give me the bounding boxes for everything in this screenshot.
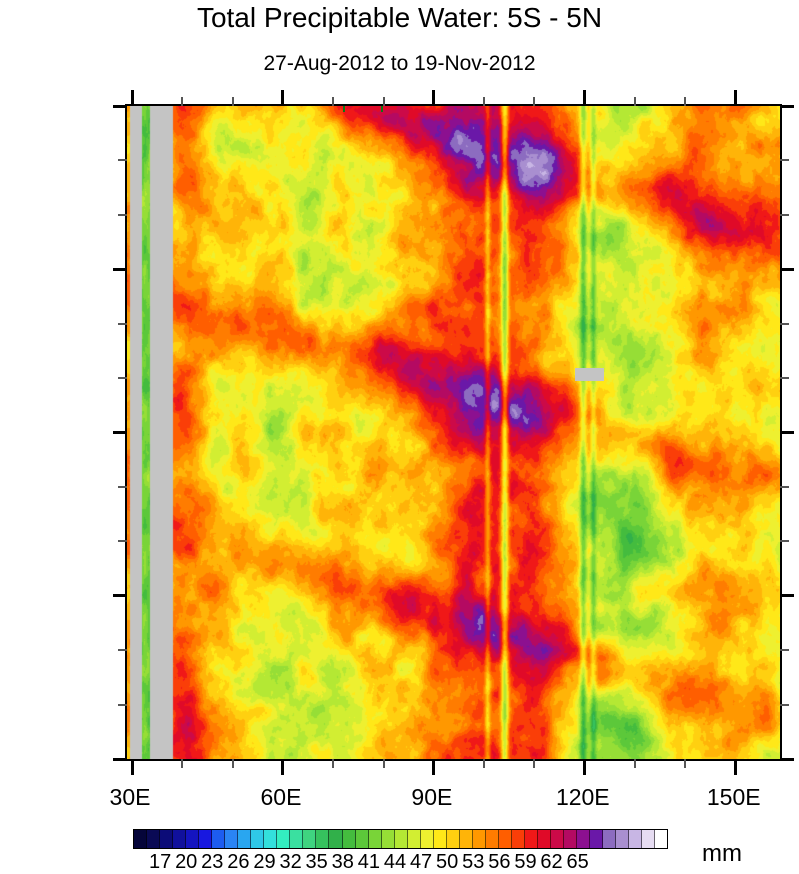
colorbar-tick-label: 23 (201, 851, 223, 874)
colorbar-cell (395, 830, 408, 848)
colorbar-tick-label: 62 (540, 851, 562, 874)
colorbar-tick-label: 29 (253, 851, 275, 874)
colorbar-cell (225, 830, 238, 848)
colorbar-gradient (133, 829, 668, 849)
colorbar-cell (290, 830, 303, 848)
colorbar-cell (186, 830, 199, 848)
colorbar-cell (329, 830, 342, 848)
x-axis-tick-label: 30E (80, 784, 180, 811)
colorbar-cell (199, 830, 212, 848)
colorbar-cell (642, 830, 655, 848)
colorbar-cell (264, 830, 277, 848)
colorbar-tick-label: 26 (227, 851, 249, 874)
colorbar-cell (538, 830, 551, 848)
colorbar-cell (343, 830, 356, 848)
colorbar-cell (499, 830, 512, 848)
colorbar-cell (369, 830, 382, 848)
colorbar-tick-label: 65 (567, 851, 589, 874)
colorbar-cell (277, 830, 290, 848)
colorbar-cell (577, 830, 590, 848)
colorbar-cell (434, 830, 447, 848)
colorbar-cell (212, 830, 225, 848)
colorbar-cell (382, 830, 395, 848)
x-axis-labels: 30E60E90E120E150E (0, 0, 799, 872)
colorbar-tick-label: 59 (514, 851, 536, 874)
colorbar-cell (460, 830, 473, 848)
colorbar-cell (629, 830, 642, 848)
colorbar-cell (512, 830, 525, 848)
colorbar-cell (134, 830, 147, 848)
x-axis-tick-label: 60E (231, 784, 331, 811)
x-axis-tick-label: 90E (382, 784, 482, 811)
colorbar-cell (421, 830, 434, 848)
colorbar-cell (447, 830, 460, 848)
colorbar-cell (616, 830, 629, 848)
colorbar-cell (160, 830, 173, 848)
colorbar-cell (473, 830, 486, 848)
colorbar-cell (603, 830, 616, 848)
colorbar-tick-label: 32 (279, 851, 301, 874)
colorbar-tick-label: 38 (332, 851, 354, 874)
x-axis-tick-label: 120E (533, 784, 633, 811)
colorbar-cell (251, 830, 264, 848)
colorbar-tick-label: 41 (358, 851, 380, 874)
colorbar-cell (408, 830, 421, 848)
colorbar-unit-label: mm (702, 840, 742, 868)
colorbar-cell (173, 830, 186, 848)
colorbar-tick-label: 20 (175, 851, 197, 874)
colorbar-tick-label: 53 (462, 851, 484, 874)
colorbar-cell (356, 830, 369, 848)
colorbar-tick-label: 17 (149, 851, 171, 874)
colorbar-tick-label: 56 (488, 851, 510, 874)
colorbar-cell (316, 830, 329, 848)
colorbar-tick-label: 35 (306, 851, 328, 874)
colorbar-cell (303, 830, 316, 848)
colorbar: 1720232629323538414447505356596265 (133, 829, 668, 849)
colorbar-cell (655, 830, 667, 848)
colorbar-cell (486, 830, 499, 848)
colorbar-cell (590, 830, 603, 848)
colorbar-cell (525, 830, 538, 848)
colorbar-tick-label: 47 (410, 851, 432, 874)
colorbar-cell (147, 830, 160, 848)
x-axis-tick-label: 150E (684, 784, 784, 811)
colorbar-tick-label: 44 (384, 851, 406, 874)
colorbar-tick-label: 50 (436, 851, 458, 874)
colorbar-cell (238, 830, 251, 848)
colorbar-cell (551, 830, 564, 848)
colorbar-cell (564, 830, 577, 848)
